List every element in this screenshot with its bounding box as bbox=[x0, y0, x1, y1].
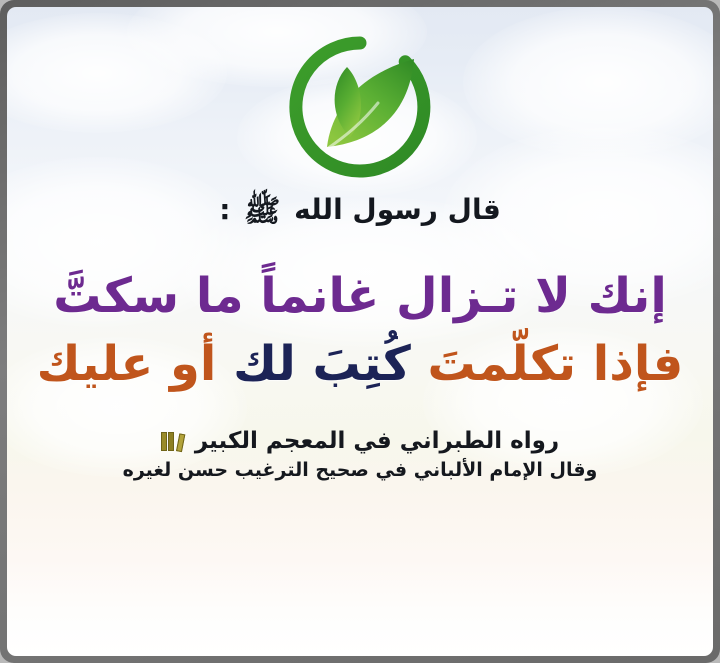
salla-allahu-alayhi-wasallam-icon: ﷺ bbox=[244, 194, 280, 229]
attribution-source-row: رواه الطبراني في المعجم الكبير bbox=[123, 428, 598, 454]
attribution-source-text: رواه الطبراني في المعجم الكبير bbox=[195, 428, 559, 454]
card-content: قال رسول الله ﷺ : إنك لا تـزال غانماً ما… bbox=[7, 7, 713, 656]
intro-suffix: : bbox=[219, 193, 230, 226]
hadith-line-1: إنك لا تـزال غانماً ما سكتَّ bbox=[7, 262, 713, 330]
hadith-line-2-part-3: أو عليك bbox=[37, 336, 217, 392]
intro-prefix: قال رسول الله bbox=[294, 193, 501, 226]
hadith-line-2-part-2: كُتِبَ لك bbox=[233, 336, 411, 392]
attribution-block: رواه الطبراني في المعجم الكبير وقال الإم… bbox=[123, 428, 598, 481]
intro-line: قال رسول الله ﷺ : bbox=[219, 193, 501, 236]
attribution-grading-text: وقال الإمام الألباني في صحيح الترغيب حسن… bbox=[123, 459, 598, 481]
card-frame: قال رسول الله ﷺ : إنك لا تـزال غانماً ما… bbox=[0, 0, 720, 663]
hadith-text: إنك لا تـزال غانماً ما سكتَّ فإذا تكلّمت… bbox=[7, 262, 713, 398]
hadith-line-2: فإذا تكلّمتَ كُتِبَ لك أو عليك bbox=[7, 330, 713, 398]
card-background: قال رسول الله ﷺ : إنك لا تـزال غانماً ما… bbox=[7, 7, 713, 656]
books-icon bbox=[161, 431, 185, 451]
hadith-line-2-part-1: فإذا تكلّمتَ bbox=[428, 336, 684, 392]
leaf-circle-logo bbox=[286, 33, 434, 181]
